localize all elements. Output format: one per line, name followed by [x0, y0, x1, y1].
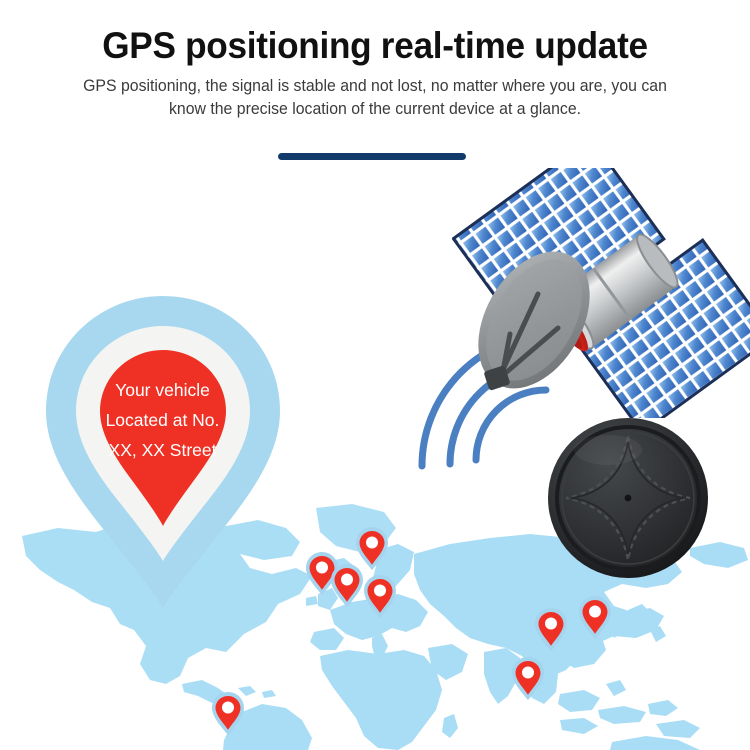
vehicle-location-pin[interactable] — [38, 292, 288, 612]
page-subtitle: GPS positioning, the signal is stable an… — [68, 75, 682, 121]
gps-product-banner: GPS positioning real-time update GPS pos… — [0, 0, 750, 750]
gps-tracker-device[interactable] — [546, 416, 710, 580]
pin-southern-europe[interactable] — [363, 574, 397, 618]
pin-east-asia[interactable] — [534, 607, 568, 651]
pin-south-america[interactable] — [211, 691, 245, 735]
header: GPS positioning real-time update GPS pos… — [0, 0, 750, 175]
gps-satellite-icon — [452, 168, 750, 418]
pin-central-europe[interactable] — [330, 563, 364, 607]
pin-southeast-asia[interactable] — [511, 656, 545, 700]
pin-japan[interactable] — [578, 595, 612, 639]
page-title: GPS positioning real-time update — [19, 0, 732, 68]
